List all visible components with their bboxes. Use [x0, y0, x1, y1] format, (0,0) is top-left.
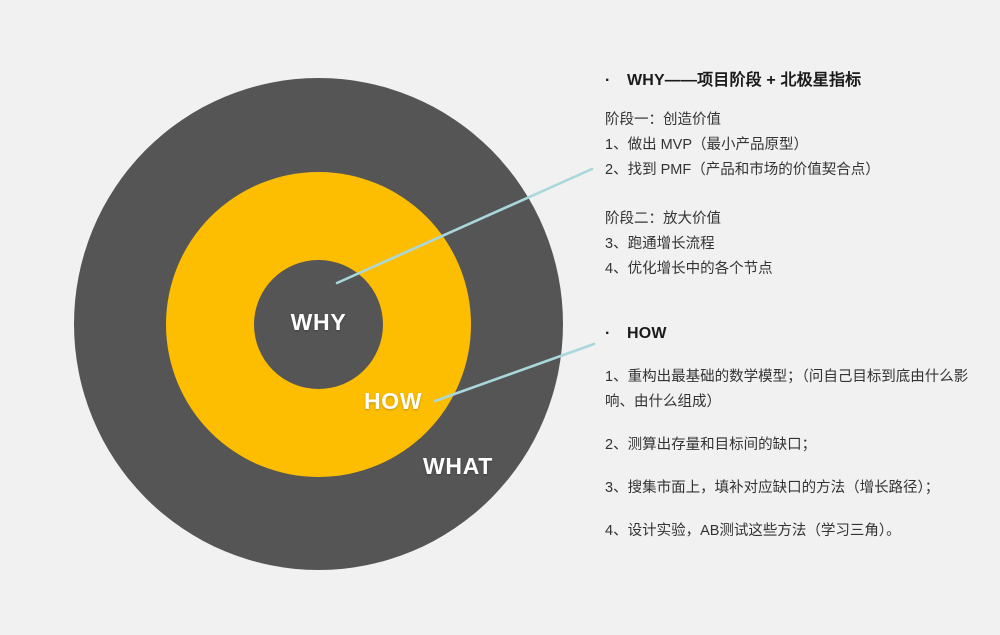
- bullet-icon-why: ·: [605, 72, 627, 90]
- golden-circle-diagram: WHY HOW WHAT: [0, 0, 600, 635]
- bullet-icon-how: ·: [605, 325, 627, 343]
- how-list-item-2: 3、搜集市面上，填补对应缺口的方法（增长路径）；: [605, 476, 985, 501]
- how-list-item-3: 4、设计实验，AB测试这些方法（学习三角）。: [605, 519, 985, 544]
- heading-how: ·HOW: [605, 325, 667, 343]
- why-stage2-line-1: 3、跑通增长流程: [605, 232, 985, 257]
- why-stage1-block: 阶段一：创造价值 1、做出 MVP（最小产品原型） 2、找到 PMF（产品和市场…: [605, 108, 985, 183]
- why-stage2-line-0: 阶段二：放大价值: [605, 207, 985, 232]
- heading-why-text: WHY——项目阶段 + 北极星指标: [627, 72, 861, 89]
- why-stage1-line-2: 2、找到 PMF（产品和市场的价值契合点）: [605, 158, 985, 183]
- how-list-block: 1、重构出最基础的数学模型；（问自己目标到底由什么影响、由什么组成） 2、测算出…: [605, 365, 985, 544]
- ring-label-how: HOW: [364, 388, 422, 415]
- slide-canvas: WHY HOW WHAT ·WHY——项目阶段 + 北极星指标 阶段一：创造价值…: [0, 0, 1000, 635]
- how-list-item-0: 1、重构出最基础的数学模型；（问自己目标到底由什么影响、由什么组成）: [605, 365, 985, 415]
- heading-why: ·WHY——项目阶段 + 北极星指标: [605, 66, 861, 90]
- ring-label-what: WHAT: [423, 453, 493, 480]
- how-list-item-1: 2、测算出存量和目标间的缺口；: [605, 433, 985, 458]
- why-stage2-line-2: 4、优化增长中的各个节点: [605, 257, 985, 282]
- heading-how-text: HOW: [627, 325, 667, 342]
- why-stage1-line-1: 1、做出 MVP（最小产品原型）: [605, 133, 985, 158]
- ring-label-why: WHY: [254, 309, 383, 336]
- why-stage1-line-0: 阶段一：创造价值: [605, 108, 985, 133]
- why-stage2-block: 阶段二：放大价值 3、跑通增长流程 4、优化增长中的各个节点: [605, 207, 985, 282]
- text-panel: ·WHY——项目阶段 + 北极星指标 阶段一：创造价值 1、做出 MVP（最小产…: [600, 0, 1000, 635]
